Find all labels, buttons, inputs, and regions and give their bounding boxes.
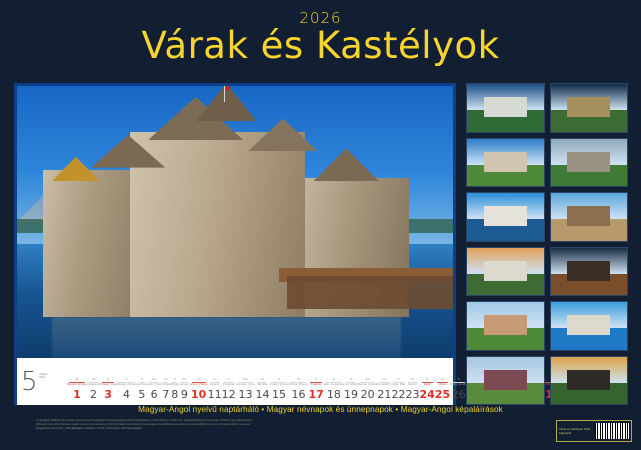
castle-flag-icon (224, 86, 225, 102)
day-number: 12 (222, 387, 236, 402)
name-day-label: Konstantin (377, 383, 391, 386)
calendar-day-23[interactable]: SzDezső23 (406, 378, 420, 402)
main-photo-panel: 5 MájusMay PMunka ünnepe1SzZsigmond2VTím… (14, 83, 456, 405)
day-name-label: K (137, 378, 147, 381)
day-number: 3 (100, 387, 116, 402)
day-number: 13 (236, 387, 256, 402)
aerial-fortress-thumb[interactable] (550, 83, 629, 133)
day-number: 7 (161, 387, 170, 402)
day-name-label: Sze (147, 378, 161, 381)
name-day-label: Mónika, Flórián (116, 383, 137, 386)
hero-castle-photo (17, 86, 453, 358)
day-name-label: V (100, 378, 116, 381)
thumb-castle-shape (567, 97, 610, 117)
name-day-label: Gizella (161, 383, 170, 386)
calendar-day-26[interactable]: KFülöp, Evelin26 (450, 378, 467, 402)
day-number: 1 (67, 387, 87, 402)
day-number: 20 (358, 387, 377, 402)
name-day-label: Ivó, Milán (344, 383, 358, 386)
thumb-castle-shape (484, 206, 527, 226)
name-day-label: Erik, Alexandra (324, 383, 344, 386)
hilltop-fortress-thumb[interactable] (550, 138, 629, 188)
calendar-strip: 5 MájusMay PMunka ünnepe1SzZsigmond2VTím… (17, 358, 453, 405)
name-day-label: Fülöp, Evelin (450, 383, 467, 386)
day-number: 23 (406, 387, 420, 402)
day-name-label: K (222, 378, 236, 381)
day-number: 9 (179, 387, 190, 402)
day-number: 15 (269, 387, 288, 402)
calendar-day-4[interactable]: HMónika, Flórián4 (116, 378, 137, 402)
thumb-castle-shape (484, 315, 527, 335)
chateau-lake-thumb[interactable] (466, 83, 545, 133)
calendar-day-19[interactable]: KIvó, Milán19 (344, 378, 358, 402)
name-day-label: Györgyi (137, 383, 147, 386)
calendar-day-18[interactable]: HErik, Alexandra18 (324, 378, 344, 402)
calendar-day-3[interactable]: VTímea, Irma3 (100, 378, 116, 402)
day-name-label: V (308, 378, 323, 381)
name-day-label: Munka ünnepe (67, 383, 87, 386)
month-names: MájusMay (40, 373, 48, 380)
page-header: 2026 Várak és Kastélyok (0, 0, 641, 78)
calendar-day-20[interactable]: SzeBernát, Felícia20 (358, 378, 377, 402)
japanese-castle-thumb[interactable] (466, 247, 545, 297)
thumb-castle-shape (484, 152, 527, 172)
calendar-day-15[interactable]: PZsófia, Szonja15 (269, 378, 288, 402)
calendar-day-16[interactable]: SzMózes, Botond16 (288, 378, 308, 402)
day-number: 25 (435, 387, 450, 402)
thumb-castle-shape (484, 97, 527, 117)
calendar-day-25[interactable]: HOrbán25 (435, 378, 450, 402)
day-number: 5 (137, 387, 147, 402)
water-reflection (52, 317, 401, 358)
calendar-day-1[interactable]: PMunka ünnepe1 (67, 378, 87, 402)
day-number: 11 (208, 387, 222, 402)
day-name-label: Sz (179, 378, 190, 381)
calendar-day-21[interactable]: CsKonstantin21 (377, 378, 391, 402)
day-name-label: K (344, 378, 358, 381)
tagline: Magyar-Angol nyelvű naptárháló • Magyar … (0, 405, 641, 415)
lakeside-castle-thumb[interactable] (466, 192, 545, 242)
calendar-day-24[interactable]: VEliza24 (420, 378, 435, 402)
month-number: 5 (21, 367, 38, 397)
thumb-castle-shape (484, 370, 527, 390)
name-day-label: Bernát, Felícia (358, 383, 377, 386)
day-number: 14 (255, 387, 269, 402)
barcode-icon (595, 423, 629, 439)
name-day-label: Pongrác (222, 383, 236, 386)
month-block: 5 MájusMay (21, 367, 67, 397)
day-name-label: Cs (377, 378, 391, 381)
calendar-day-2[interactable]: SzZsigmond2 (87, 378, 100, 402)
calendar-day-22[interactable]: PJúlia, Rita22 (392, 378, 406, 402)
calendar-day-13[interactable]: SzeSzervác, Imola13 (236, 378, 256, 402)
day-name-label: P (269, 378, 288, 381)
day-name-label: Sz (87, 378, 100, 381)
name-day-label: Zsigmond (87, 383, 100, 386)
calendar-day-6[interactable]: SzeIvett, Frida6 (147, 378, 161, 402)
island-castle-thumb[interactable] (550, 301, 629, 351)
day-name-label: K (450, 378, 467, 381)
day-number: 8 (170, 387, 179, 402)
thumb-castle-shape (567, 206, 610, 226)
day-number: 26 (450, 387, 467, 402)
castle-left-wing (43, 170, 143, 317)
name-day-label: Ármin, Pálma (190, 383, 208, 386)
thumb-castle-shape (484, 261, 527, 281)
palace-courtyard-thumb[interactable] (550, 192, 629, 242)
calendar-day-10[interactable]: VÁrmin, Pálma10 (190, 378, 208, 402)
thumbnail-grid (466, 83, 628, 405)
day-name-label: H (208, 378, 222, 381)
name-day-label: Júlia, Rita (392, 383, 406, 386)
day-name-label: V (420, 378, 435, 381)
calendar-day-9[interactable]: SzGergely9 (179, 378, 190, 402)
calendar-day-12[interactable]: KPongrác12 (222, 378, 236, 402)
day-name-label: P (67, 378, 87, 381)
day-name-label: H (116, 378, 137, 381)
day-name-label: V (190, 378, 208, 381)
day-name-label: Sze (358, 378, 377, 381)
day-number: 19 (344, 387, 358, 402)
name-day-label: Szervác, Imola (236, 383, 256, 386)
name-day-label: Gergely (179, 383, 190, 386)
name-day-label: Mózes, Botond (288, 383, 308, 386)
thumb-castle-shape (567, 261, 610, 281)
day-name-label: Sze (236, 378, 256, 381)
day-name-label: P (392, 378, 406, 381)
name-day-label: Tímea, Irma (100, 383, 116, 386)
formal-garden-palace-thumb[interactable] (466, 356, 545, 406)
name-day-label: Mihály (170, 383, 179, 386)
day-number: 21 (377, 387, 391, 402)
day-number: 22 (392, 387, 406, 402)
thumb-castle-shape (567, 370, 610, 390)
day-number: 10 (190, 387, 208, 402)
day-number: 18 (324, 387, 344, 402)
sunset-castle-thumb[interactable] (550, 356, 629, 406)
day-name-label: Cs (255, 378, 269, 381)
name-day-label: Ivett, Frida (147, 383, 161, 386)
day-name-label: P (170, 378, 179, 381)
day-name-label: H (435, 378, 450, 381)
calendar-day-8[interactable]: PMihály8 (170, 378, 179, 402)
fine-print-line-3: Forgatmazza Home Kft. • 1163 Budapest, L… (36, 427, 336, 431)
calendar-day-5[interactable]: KGyörgyi5 (137, 378, 147, 402)
thumb-castle-shape (567, 152, 610, 172)
day-name-label: H (324, 378, 344, 381)
day-number: 16 (288, 387, 308, 402)
barcode-product-label: Várak és Kastélyok 2026 Falinaptár (559, 427, 595, 435)
day-number: 2 (87, 387, 100, 402)
day-name-label: Sz (288, 378, 308, 381)
barcode-box: Várak és Kastélyok 2026 Falinaptár (556, 420, 632, 442)
calendar-day-14[interactable]: CsBonifác14 (255, 378, 269, 402)
day-number: 17 (308, 387, 323, 402)
calendar-day-17[interactable]: VPaszkál17 (308, 378, 323, 402)
day-name-label: Sz (406, 378, 420, 381)
loch-ruin-thumb[interactable] (550, 247, 629, 297)
day-number: 6 (147, 387, 161, 402)
thumb-castle-shape (567, 315, 610, 335)
twin-tower-castle-thumb[interactable] (466, 138, 545, 188)
name-day-label: Zsófia, Szonja (269, 383, 288, 386)
day-name-label: Cs (161, 378, 170, 381)
manor-house-thumb[interactable] (466, 301, 545, 351)
fine-print: A naptárban található információk ugyan … (36, 419, 336, 431)
day-number: 4 (116, 387, 137, 402)
page-title: Várak és Kastélyok (0, 25, 641, 67)
calendar-day-7[interactable]: CsGizella7 (161, 378, 170, 402)
boardwalk (287, 276, 453, 309)
name-day-label: Bonifác (255, 383, 269, 386)
day-number: 24 (420, 387, 435, 402)
calendar-day-11[interactable]: HFerenc11 (208, 378, 222, 402)
